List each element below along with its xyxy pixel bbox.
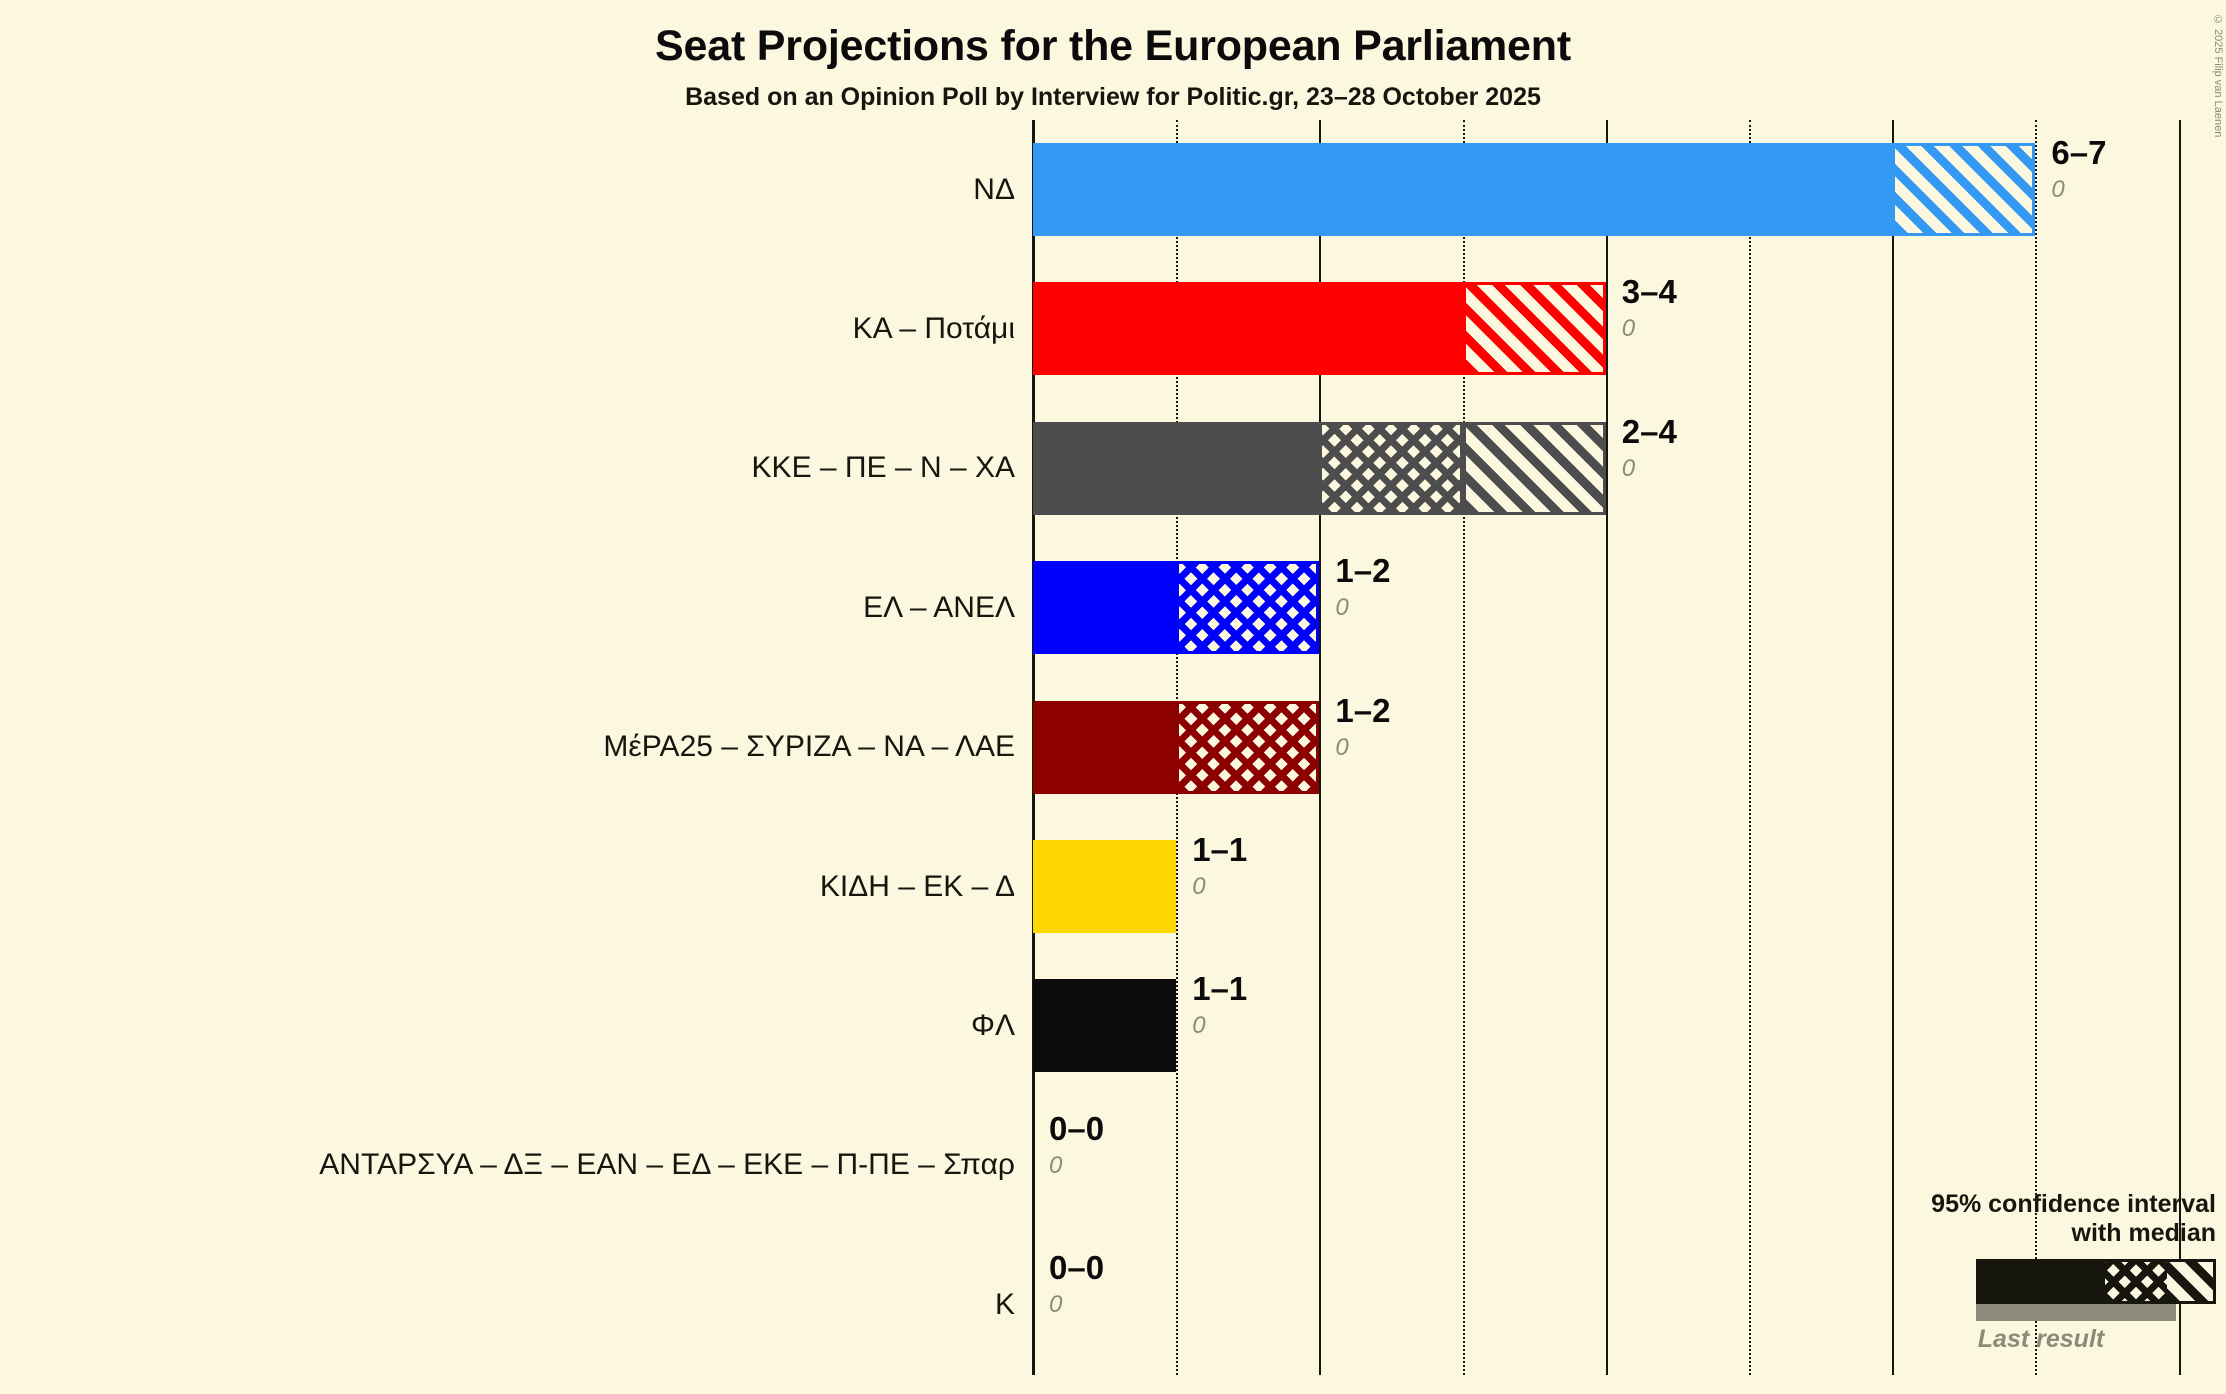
legend-line-1: 95% confidence interval bbox=[1866, 1190, 2216, 1219]
seat-range-label: 0–0 bbox=[1049, 1110, 1104, 1148]
party-label: ΦΛ bbox=[33, 956, 1033, 1095]
bar-solid-segment bbox=[1033, 282, 1463, 375]
party-label: ΕΛ – ΑΝΕΛ bbox=[33, 538, 1033, 677]
bar-row: ΚΚΕ – ΠΕ – Ν – ΧΑ2–40 bbox=[0, 399, 2226, 538]
seat-range-label: 1–2 bbox=[1335, 692, 1390, 730]
seat-range-label: 1–1 bbox=[1192, 970, 1247, 1008]
bar-row: ΕΛ – ΑΝΕΛ1–20 bbox=[0, 538, 2226, 677]
legend-crosshatch-segment bbox=[2105, 1262, 2167, 1301]
last-result-label: 0 bbox=[1335, 594, 1348, 622]
party-label: ΜέΡΑ25 – ΣΥΡΙΖΑ – ΝΑ – ΛΑΕ bbox=[33, 678, 1033, 817]
copyright-notice: © 2025 Filip van Laenen bbox=[2212, 14, 2224, 137]
bar-solid-segment bbox=[1033, 701, 1176, 794]
confidence-interval-bar bbox=[1033, 1119, 1034, 1212]
legend-interval-bar bbox=[1976, 1259, 2216, 1304]
bar-diagonal-segment bbox=[1463, 282, 1606, 375]
page-title: Seat Projections for the European Parlia… bbox=[0, 22, 2226, 71]
bar-diagonal-segment bbox=[1892, 143, 2035, 236]
bar-solid-segment bbox=[1033, 561, 1176, 654]
party-label: Κ bbox=[33, 1235, 1033, 1374]
last-result-label: 0 bbox=[1622, 315, 1635, 343]
last-result-label: 0 bbox=[1192, 1012, 1205, 1040]
party-label: ΑΝΤΑΡΣΥΑ – ΔΞ – ΕΑΝ – ΕΔ – ΕΚΕ – Π-ΠΕ – … bbox=[33, 1096, 1033, 1235]
party-label: ΚΚΕ – ΠΕ – Ν – ΧΑ bbox=[33, 399, 1033, 538]
legend-diagonal-segment bbox=[2167, 1262, 2213, 1301]
party-label: ΚΙΔΗ – ΕΚ – Δ bbox=[33, 817, 1033, 956]
last-result-label: 0 bbox=[1192, 873, 1205, 901]
bar-crosshatch-segment bbox=[1176, 561, 1319, 654]
bar-row: ΚΙΔΗ – ΕΚ – Δ1–10 bbox=[0, 817, 2226, 956]
seat-range-label: 1–2 bbox=[1335, 552, 1390, 590]
seat-range-label: 2–4 bbox=[1622, 413, 1677, 451]
last-result-label: 0 bbox=[1049, 1291, 1062, 1319]
confidence-interval-bar bbox=[1033, 979, 1176, 1072]
bar-crosshatch-segment bbox=[1176, 701, 1319, 794]
legend-line-2: with median bbox=[1866, 1219, 2216, 1248]
legend: 95% confidence interval with median Last… bbox=[1866, 1190, 2216, 1354]
bar-solid-segment bbox=[1033, 979, 1176, 1072]
last-result-label: 0 bbox=[1335, 734, 1348, 762]
seat-range-label: 0–0 bbox=[1049, 1249, 1104, 1287]
bar-crosshatch-segment bbox=[1319, 422, 1462, 515]
party-label: ΝΔ bbox=[33, 120, 1033, 259]
confidence-interval-bar bbox=[1033, 143, 2035, 236]
seat-range-label: 6–7 bbox=[2051, 134, 2106, 172]
last-result-label: 0 bbox=[2051, 176, 2064, 204]
last-result-label: 0 bbox=[1622, 455, 1635, 483]
bar-row: ΝΔ6–70 bbox=[0, 120, 2226, 259]
bar-row: ΦΛ1–10 bbox=[0, 956, 2226, 1095]
confidence-interval-bar bbox=[1033, 701, 1319, 794]
legend-last-result-bar bbox=[1976, 1304, 2176, 1321]
bar-solid-segment bbox=[1033, 840, 1176, 933]
legend-last-result-label: Last result bbox=[1896, 1325, 2186, 1354]
confidence-interval-bar bbox=[1033, 422, 1606, 515]
confidence-interval-bar bbox=[1033, 282, 1606, 375]
bar-row: ΜέΡΑ25 – ΣΥΡΙΖΑ – ΝΑ – ΛΑΕ1–20 bbox=[0, 678, 2226, 817]
seat-range-label: 1–1 bbox=[1192, 831, 1247, 869]
confidence-interval-bar bbox=[1033, 840, 1176, 933]
confidence-interval-bar bbox=[1033, 561, 1319, 654]
seat-projection-chart: Seat Projections for the European Parlia… bbox=[0, 0, 2226, 1394]
seat-range-label: 3–4 bbox=[1622, 273, 1677, 311]
last-result-label: 0 bbox=[1049, 1152, 1062, 1180]
chart-subtitle: Based on an Opinion Poll by Interview fo… bbox=[0, 83, 2226, 112]
bar-diagonal-segment bbox=[1463, 422, 1606, 515]
party-label: ΚΑ – Ποτάμι bbox=[33, 259, 1033, 398]
bar-solid-segment bbox=[1033, 143, 1892, 236]
bar-row: ΚΑ – Ποτάμι3–40 bbox=[0, 259, 2226, 398]
confidence-interval-bar bbox=[1033, 1258, 1034, 1351]
bar-solid-segment bbox=[1033, 422, 1319, 515]
